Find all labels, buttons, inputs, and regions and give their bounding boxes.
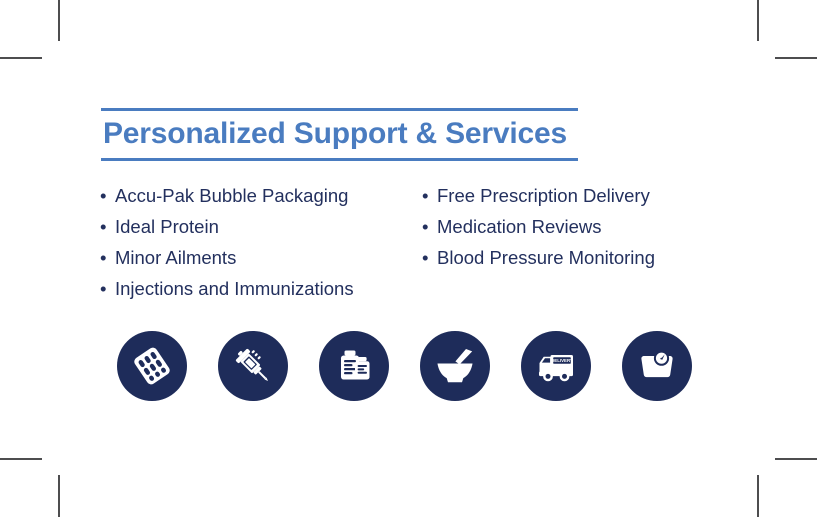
delivery-truck-icon: DELIVERY bbox=[533, 343, 579, 389]
crop-mark-bottom-left-horizontal bbox=[0, 458, 42, 460]
list-item: • Minor Ailments bbox=[97, 242, 419, 273]
list-item: • Injections and Immunizations bbox=[97, 273, 419, 304]
truck-label: DELIVERY bbox=[551, 358, 573, 363]
blister-pack-icon bbox=[130, 344, 174, 388]
list-item: • Ideal Protein bbox=[97, 211, 419, 242]
bullet-icon: • bbox=[100, 211, 106, 242]
crop-mark-top-right-vertical bbox=[757, 0, 759, 41]
weight-scale-icon bbox=[635, 344, 679, 388]
service-icon-row: DELIVERY bbox=[117, 331, 692, 401]
mortar-pestle-icon bbox=[432, 343, 478, 389]
list-item: • Medication Reviews bbox=[419, 211, 737, 242]
bullet-icon: • bbox=[422, 242, 428, 273]
icon-circle-delivery-truck: DELIVERY bbox=[521, 331, 591, 401]
bullet-icon: • bbox=[100, 273, 106, 304]
list-item-label: Injections and Immunizations bbox=[115, 278, 354, 299]
icon-circle-weight-scale bbox=[622, 331, 692, 401]
list-item: • Free Prescription Delivery bbox=[419, 180, 737, 211]
services-right-list: • Free Prescription Delivery • Medicatio… bbox=[419, 180, 737, 273]
list-item-label: Free Prescription Delivery bbox=[437, 185, 650, 206]
bullet-icon: • bbox=[422, 180, 428, 211]
list-item-label: Blood Pressure Monitoring bbox=[437, 247, 655, 268]
crop-mark-top-left-horizontal bbox=[0, 57, 42, 59]
list-item-label: Medication Reviews bbox=[437, 216, 602, 237]
services-right-column: • Free Prescription Delivery • Medicatio… bbox=[419, 180, 737, 273]
services-left-list: • Accu-Pak Bubble Packaging • Ideal Prot… bbox=[97, 180, 419, 304]
icon-circle-mortar-pestle bbox=[420, 331, 490, 401]
syringe-icon bbox=[230, 343, 276, 389]
crop-mark-bottom-right-vertical bbox=[757, 475, 759, 517]
crop-mark-bottom-left-vertical bbox=[58, 475, 60, 517]
list-item-label: Accu-Pak Bubble Packaging bbox=[115, 185, 348, 206]
list-item-label: Minor Ailments bbox=[115, 247, 236, 268]
services-left-column: • Accu-Pak Bubble Packaging • Ideal Prot… bbox=[97, 180, 419, 304]
services-lists: • Accu-Pak Bubble Packaging • Ideal Prot… bbox=[97, 180, 737, 304]
icon-circle-medicine-bottles bbox=[319, 331, 389, 401]
crop-mark-bottom-right-horizontal bbox=[775, 458, 817, 460]
page-title: Personalized Support & Services bbox=[101, 111, 578, 158]
heading-bottom-rule bbox=[101, 158, 578, 161]
heading-block: Personalized Support & Services bbox=[101, 108, 578, 161]
crop-mark-top-right-horizontal bbox=[775, 57, 817, 59]
icon-circle-blister-pack bbox=[117, 331, 187, 401]
bullet-icon: • bbox=[422, 211, 428, 242]
icon-circle-syringe bbox=[218, 331, 288, 401]
list-item: • Blood Pressure Monitoring bbox=[419, 242, 737, 273]
list-item: • Accu-Pak Bubble Packaging bbox=[97, 180, 419, 211]
bullet-icon: • bbox=[100, 180, 106, 211]
medicine-bottles-icon bbox=[333, 345, 375, 387]
bullet-icon: • bbox=[100, 242, 106, 273]
list-item-label: Ideal Protein bbox=[115, 216, 219, 237]
crop-mark-top-left-vertical bbox=[58, 0, 60, 41]
